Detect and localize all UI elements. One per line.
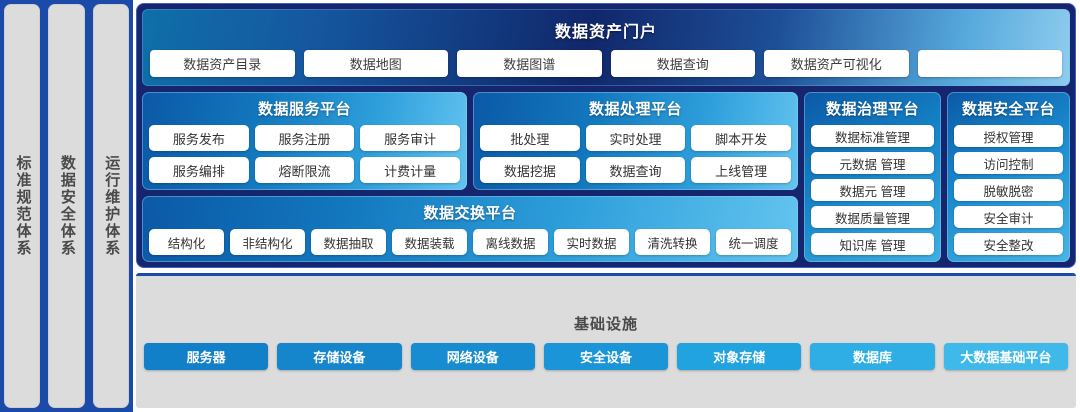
portal-button-data-map[interactable]: 数据地图 [304, 50, 449, 77]
data-processing-platform-items: 批处理 实时处理 脚本开发 数据挖据 数据查询 上线管理 [480, 125, 791, 183]
chip-cleansing-transform[interactable]: 清洗转换 [635, 229, 710, 255]
portal-button-data-graph[interactable]: 数据图谱 [457, 50, 602, 77]
chip-release-management[interactable]: 上线管理 [691, 157, 791, 183]
infra-button-database[interactable]: 数据库 [810, 343, 934, 370]
infra-button-network-device[interactable]: 网络设备 [411, 343, 535, 370]
portal-button-visualization[interactable]: 数据资产可视化 [764, 50, 909, 77]
chip-realtime-data[interactable]: 实时数据 [554, 229, 629, 255]
chip-service-register[interactable]: 服务注册 [255, 125, 355, 151]
data-exchange-platform-title: 数据交换平台 [149, 202, 791, 223]
chip-circuit-breaker[interactable]: 熔断限流 [255, 157, 355, 183]
chip-data-standard-mgmt[interactable]: 数据标准管理 [811, 125, 934, 147]
chip-unstructured[interactable]: 非结构化 [230, 229, 305, 255]
chip-desensitization[interactable]: 脱敏脱密 [954, 179, 1063, 201]
chip-billing-metering[interactable]: 计费计量 [360, 157, 460, 183]
chip-structured[interactable]: 结构化 [149, 229, 224, 255]
chip-data-extraction[interactable]: 数据抽取 [311, 229, 386, 255]
chip-metadata-mgmt[interactable]: 元数据 管理 [811, 152, 934, 174]
chip-data-mining[interactable]: 数据挖据 [480, 157, 580, 183]
data-service-platform-panel: 数据服务平台 服务发布 服务注册 服务审计 服务编排 熔断限流 计费计量 [142, 92, 467, 190]
portal-button-empty[interactable] [918, 50, 1063, 77]
chip-realtime-processing[interactable]: 实时处理 [586, 125, 686, 151]
data-governance-platform-panel: 数据治理平台 数据标准管理 元数据 管理 数据元 管理 数据质量管理 知识库 管… [804, 92, 941, 262]
portal-button-catalog[interactable]: 数据资产目录 [150, 50, 295, 77]
main-column: 数据资产门户 数据资产目录 数据地图 数据图谱 数据查询 数据资产可视化 [133, 0, 1080, 412]
pillar-security[interactable]: 数据安全体系 [48, 4, 84, 408]
chip-data-loading[interactable]: 数据装载 [392, 229, 467, 255]
pillar-operations-label: 运行维护体系 [101, 155, 120, 257]
data-asset-portal-section: 数据资产门户 数据资产目录 数据地图 数据图谱 数据查询 数据资产可视化 [142, 9, 1070, 86]
chip-data-quality-mgmt[interactable]: 数据质量管理 [811, 206, 934, 228]
chip-service-orchestration[interactable]: 服务编排 [149, 157, 249, 183]
data-security-platform-items: 授权管理 访问控制 脱敏脱密 安全审计 安全整改 [954, 125, 1063, 255]
chip-security-rectification[interactable]: 安全整改 [954, 233, 1063, 255]
data-service-platform-title: 数据服务平台 [149, 98, 460, 119]
data-security-platform-panel: 数据安全平台 授权管理 访问控制 脱敏脱密 安全审计 安全整改 [947, 92, 1070, 262]
data-security-platform-title: 数据安全平台 [954, 98, 1063, 119]
data-governance-platform-items: 数据标准管理 元数据 管理 数据元 管理 数据质量管理 知识库 管理 [811, 125, 934, 255]
vertical-pillars-group: 标准规范体系 数据安全体系 运行维护体系 [0, 0, 133, 412]
data-processing-platform-panel: 数据处理平台 批处理 实时处理 脚本开发 数据挖据 数据查询 上线管理 [473, 92, 798, 190]
pillar-operations[interactable]: 运行维护体系 [93, 4, 129, 408]
data-exchange-platform-items: 结构化 非结构化 数据抽取 数据装载 离线数据 实时数据 清洗转换 统一调度 [149, 229, 791, 255]
chip-security-audit[interactable]: 安全审计 [954, 206, 1063, 228]
infrastructure-section: 基础设施 服务器 存储设备 网络设备 安全设备 对象存储 数据库 大数据基础平台 [136, 273, 1076, 408]
infra-button-security-device[interactable]: 安全设备 [544, 343, 668, 370]
chip-access-control[interactable]: 访问控制 [954, 152, 1063, 174]
portal-button-data-query[interactable]: 数据查询 [611, 50, 756, 77]
platform-grid: 数据服务平台 服务发布 服务注册 服务审计 服务编排 熔断限流 计费计量 [142, 92, 1070, 262]
chip-knowledge-base-mgmt[interactable]: 知识库 管理 [811, 233, 934, 255]
data-governance-platform-title: 数据治理平台 [811, 98, 934, 119]
infra-button-storage-device[interactable]: 存储设备 [277, 343, 401, 370]
chip-authorization-mgmt[interactable]: 授权管理 [954, 125, 1063, 147]
chip-service-audit[interactable]: 服务审计 [360, 125, 460, 151]
pillar-standards-label: 标准规范体系 [13, 155, 32, 257]
data-processing-platform-title: 数据处理平台 [480, 98, 791, 119]
platform-top-row: 数据服务平台 服务发布 服务注册 服务审计 服务编排 熔断限流 计费计量 [142, 92, 798, 190]
infra-button-object-storage[interactable]: 对象存储 [677, 343, 801, 370]
chip-data-element-mgmt[interactable]: 数据元 管理 [811, 179, 934, 201]
infrastructure-button-row: 服务器 存储设备 网络设备 安全设备 对象存储 数据库 大数据基础平台 [144, 343, 1068, 370]
chip-script-development[interactable]: 脚本开发 [691, 125, 791, 151]
chip-service-publish[interactable]: 服务发布 [149, 125, 249, 151]
platform-left-stack: 数据服务平台 服务发布 服务注册 服务审计 服务编排 熔断限流 计费计量 [142, 92, 798, 262]
data-service-platform-items: 服务发布 服务注册 服务审计 服务编排 熔断限流 计费计量 [149, 125, 460, 183]
platform-shell: 数据资产门户 数据资产目录 数据地图 数据图谱 数据查询 数据资产可视化 [136, 3, 1076, 268]
architecture-diagram: 标准规范体系 数据安全体系 运行维护体系 数据资产门户 数据资产目录 数据地图 … [0, 0, 1080, 412]
pillar-security-label: 数据安全体系 [57, 155, 76, 257]
chip-offline-data[interactable]: 离线数据 [473, 229, 548, 255]
chip-batch-processing[interactable]: 批处理 [480, 125, 580, 151]
data-exchange-platform-panel: 数据交换平台 结构化 非结构化 数据抽取 数据装载 离线数据 实时数据 清洗转换… [142, 196, 798, 262]
portal-button-row: 数据资产目录 数据地图 数据图谱 数据查询 数据资产可视化 [150, 50, 1062, 77]
chip-unified-scheduling[interactable]: 统一调度 [716, 229, 791, 255]
infrastructure-title: 基础设施 [144, 313, 1068, 334]
infra-button-server[interactable]: 服务器 [144, 343, 268, 370]
pillar-standards[interactable]: 标准规范体系 [4, 4, 40, 408]
portal-title: 数据资产门户 [150, 18, 1062, 42]
chip-data-query[interactable]: 数据查询 [586, 157, 686, 183]
infra-button-bigdata-platform[interactable]: 大数据基础平台 [944, 343, 1068, 370]
